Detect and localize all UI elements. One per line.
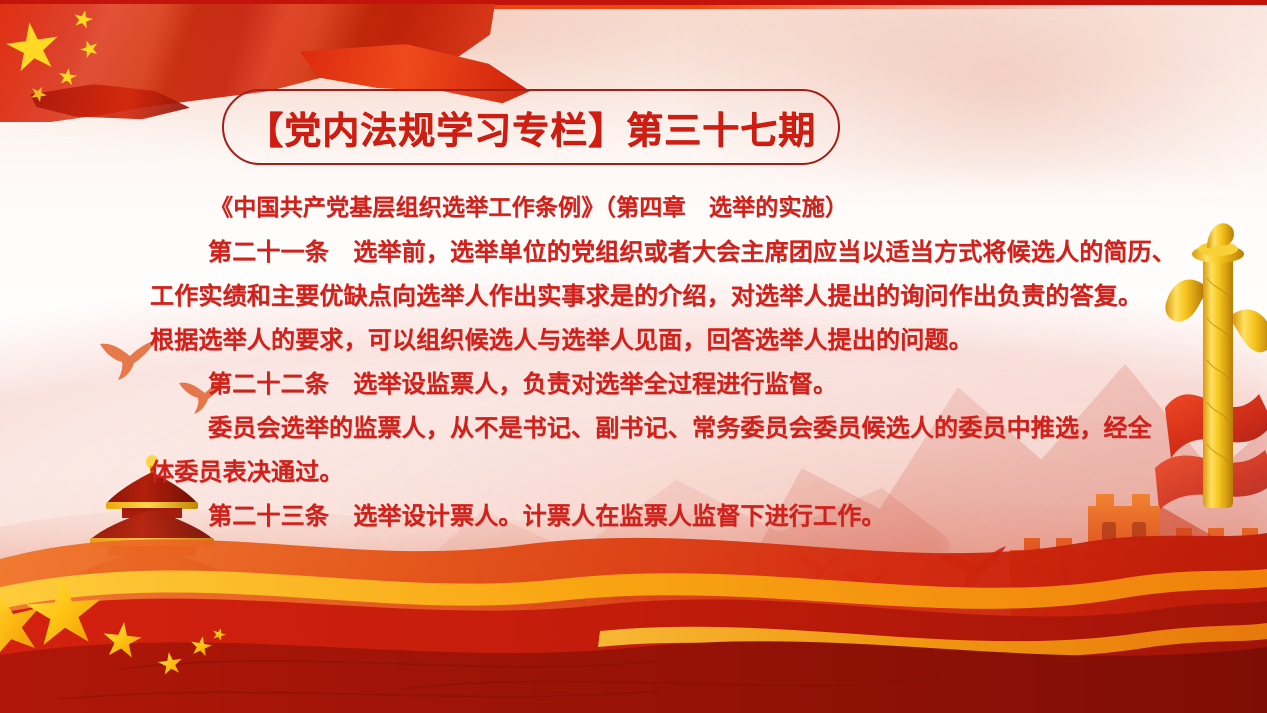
document-heading: 《中国共产党基层组织选举工作条例》（第四章 选举的实施） [150,186,1160,230]
poster-canvas: 【党内法规学习专栏】第三十七期 《中国共产党基层组织选举工作条例》（第四章 选举… [0,0,1267,713]
document-line: 第二十一条 选举前，选举单位的党组织或者大会主席团应当以适当方式将候选人的简历、 [150,230,1160,274]
document-body: 《中国共产党基层组织选举工作条例》（第四章 选举的实施） 第二十一条 选举前，选… [150,186,1160,538]
document-lines: 第二十一条 选举前，选举单位的党组织或者大会主席团应当以适当方式将候选人的简历、… [150,230,1160,538]
page-title: 【党内法规学习专栏】第三十七期 [222,89,840,165]
document-line: 根据选举人的要求，可以组织候选人与选举人见面，回答选举人提出的问题。 [150,318,1160,362]
document-line: 第二十三条 选举设计票人。计票人在监票人监督下进行工作。 [150,494,1160,538]
document-line: 委员会选举的监票人，从不是书记、副书记、常务委员会委员候选人的委员中推选，经全 [150,406,1160,450]
document-line: 体委员表决通过。 [150,450,1160,494]
document-line: 工作实绩和主要优缺点向选举人作出实事求是的介绍，对选举人提出的询问作出负责的答复… [150,274,1160,318]
document-line: 第二十二条 选举设监票人，负责对选举全过程进行监督。 [150,362,1160,406]
dove-icon [96,336,158,382]
